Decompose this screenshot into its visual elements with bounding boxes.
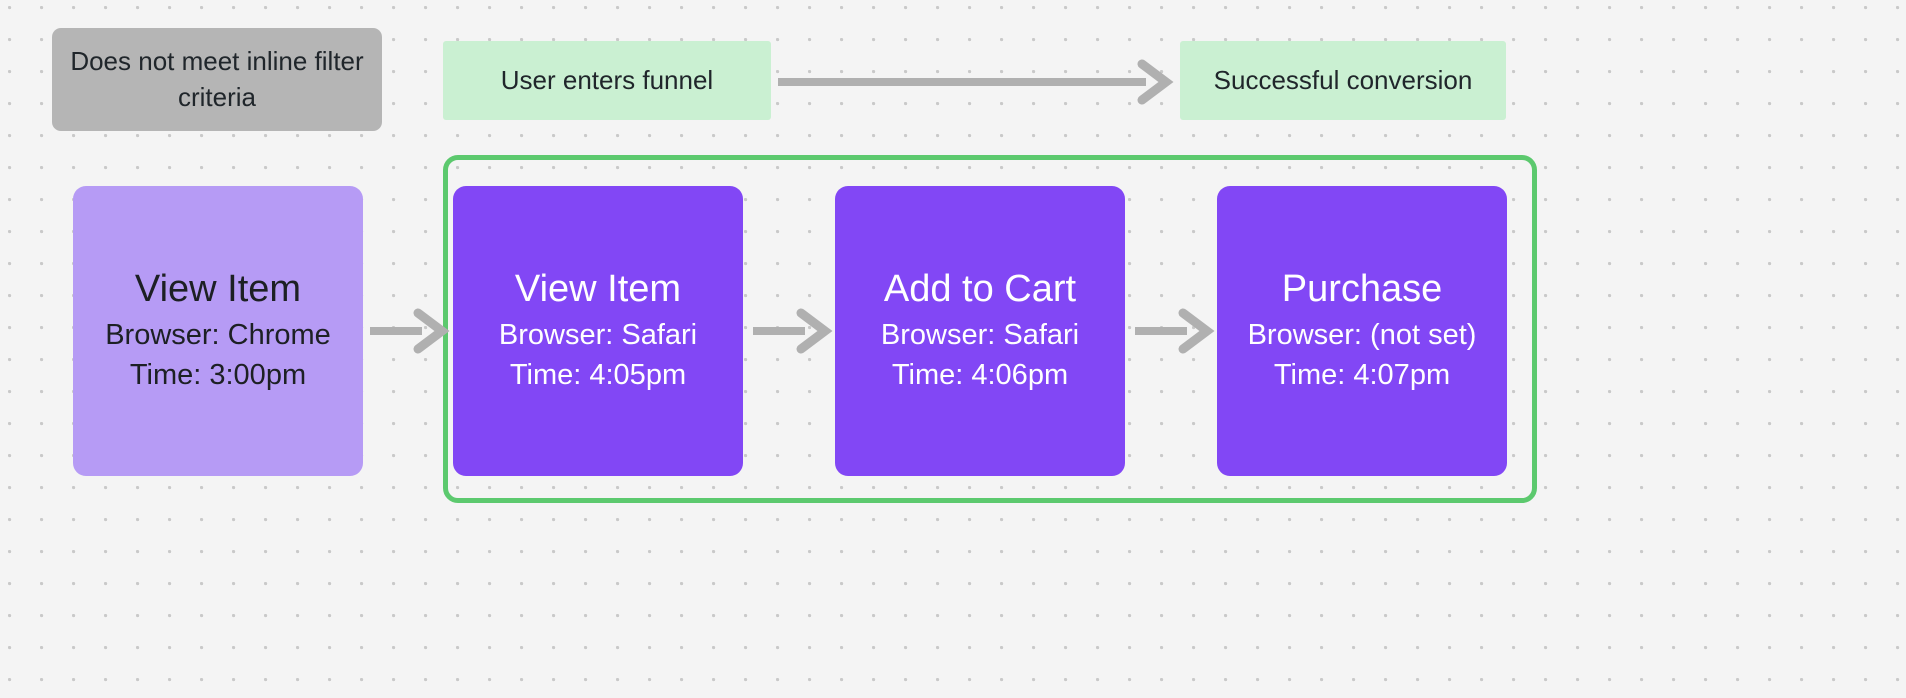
flow-arrow-icon-3 [1135, 311, 1215, 351]
event-card-browser: Browser: Safari [881, 315, 1079, 355]
event-card-time: Time: 4:06pm [892, 355, 1068, 395]
event-card-title: View Item [515, 267, 681, 312]
event-card-funnel-step-3[interactable]: Purchase Browser: (not set) Time: 4:07pm [1217, 186, 1507, 476]
event-card-browser: Browser: Safari [499, 315, 697, 355]
event-card-excluded[interactable]: View Item Browser: Chrome Time: 3:00pm [73, 186, 363, 476]
legend-conversion-label: Successful conversion [1214, 63, 1473, 98]
event-card-title: View Item [135, 267, 301, 312]
event-card-browser: Browser: Chrome [105, 315, 331, 355]
event-card-funnel-step-2[interactable]: Add to Cart Browser: Safari Time: 4:06pm [835, 186, 1125, 476]
event-card-browser: Browser: (not set) [1248, 315, 1477, 355]
legend-funnel-entry-label: User enters funnel [501, 63, 713, 98]
flow-arrow-icon-2 [753, 311, 833, 351]
event-card-title: Purchase [1282, 267, 1443, 312]
event-card-time: Time: 4:05pm [510, 355, 686, 395]
legend-flow-arrow-icon [778, 62, 1173, 102]
event-card-title: Add to Cart [884, 267, 1076, 312]
event-card-funnel-step-1[interactable]: View Item Browser: Safari Time: 4:05pm [453, 186, 743, 476]
flow-arrow-icon-1 [370, 311, 450, 351]
legend-excluded-label: Does not meet inline filter criteria [70, 44, 364, 116]
legend-excluded-box: Does not meet inline filter criteria [52, 28, 382, 131]
diagram-canvas: Does not meet inline filter criteria Use… [0, 0, 1906, 698]
event-card-time: Time: 3:00pm [130, 355, 306, 395]
legend-conversion-box: Successful conversion [1180, 41, 1506, 120]
legend-funnel-entry-box: User enters funnel [443, 41, 771, 120]
event-card-time: Time: 4:07pm [1274, 355, 1450, 395]
